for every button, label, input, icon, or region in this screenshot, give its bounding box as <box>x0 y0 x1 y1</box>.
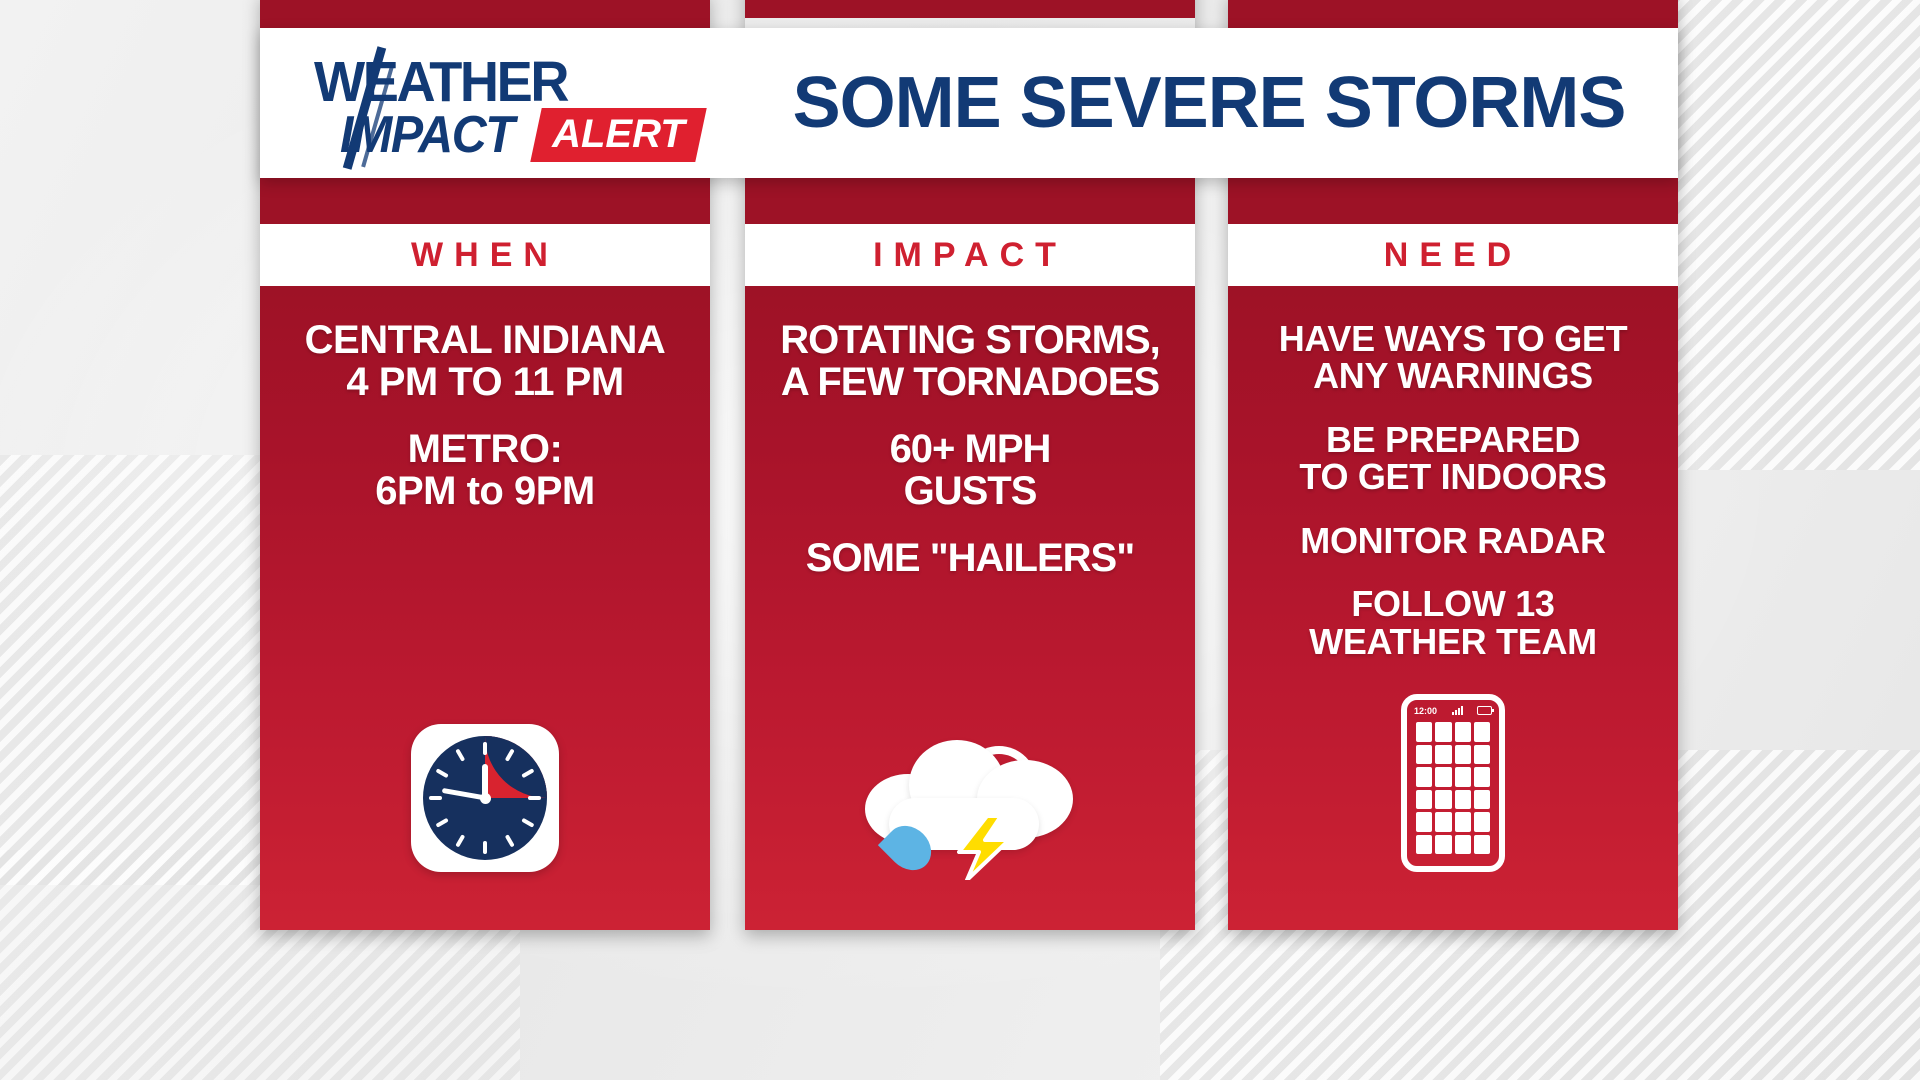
text-block: HAVE WAYS TO GET ANY WARNINGS <box>1279 320 1628 395</box>
weather-alert-graphic: WHEN CENTRAL INDIANA 4 PM TO 11 PM METRO… <box>0 0 1920 1080</box>
text-block: SOME "HAILERS" <box>806 538 1134 580</box>
weather-impact-alert-logo: WEATHER IMPACT ALERT <box>290 43 760 163</box>
column-when-red-band <box>260 178 710 224</box>
battery-icon <box>1477 706 1492 715</box>
text-line: HAVE WAYS TO GET <box>1279 320 1628 357</box>
text-line: TO GET INDOORS <box>1299 458 1606 495</box>
logo-badge-alert: ALERT <box>531 108 707 162</box>
text-block: CENTRAL INDIANA 4 PM TO 11 PM <box>305 320 666 403</box>
text-line: CENTRAL INDIANA <box>305 320 666 362</box>
clock-icon <box>411 724 559 872</box>
text-line: A FEW TORNADOES <box>780 362 1160 404</box>
column-impact-content: ROTATING STORMS, A FEW TORNADOES 60+ MPH… <box>745 286 1195 930</box>
text-block: FOLLOW 13 WEATHER TEAM <box>1309 585 1597 660</box>
text-block: BE PREPARED TO GET INDOORS <box>1299 421 1606 496</box>
text-line: 4 PM TO 11 PM <box>305 362 666 404</box>
column-need-content: HAVE WAYS TO GET ANY WARNINGS BE PREPARE… <box>1228 286 1678 930</box>
phone-status-time: 12:00 <box>1414 706 1437 716</box>
column-need-label-bar: NEED <box>1228 224 1678 286</box>
logo-word-impact: IMPACT <box>340 105 513 165</box>
smartphone-radar-icon: 12:00 <box>1401 694 1505 872</box>
text-line: FOLLOW 13 <box>1309 585 1597 622</box>
text-line: 6PM to 9PM <box>375 471 594 513</box>
text-block: 60+ MPH GUSTS <box>890 429 1051 512</box>
column-need-label: NEED <box>1384 236 1522 275</box>
text-line: SOME "HAILERS" <box>806 538 1134 580</box>
page-title: SOME SEVERE STORMS <box>760 62 1678 144</box>
text-line: BE PREPARED <box>1299 421 1606 458</box>
text-line: 60+ MPH <box>890 429 1051 471</box>
storm-cloud-lightning-icon <box>865 732 1075 872</box>
text-line: ANY WARNINGS <box>1279 357 1628 394</box>
column-impact-label-bar: IMPACT <box>745 224 1195 286</box>
text-line: GUSTS <box>890 471 1051 513</box>
column-need-red-band <box>1228 178 1678 224</box>
column-when-label-bar: WHEN <box>260 224 710 286</box>
text-line: WEATHER TEAM <box>1309 623 1597 660</box>
column-impact-label: IMPACT <box>873 236 1067 275</box>
header-bar: WEATHER IMPACT ALERT SOME SEVERE STORMS <box>260 28 1678 178</box>
column-when-content: CENTRAL INDIANA 4 PM TO 11 PM METRO: 6PM… <box>260 286 710 930</box>
column-when-label: WHEN <box>411 236 559 275</box>
column-impact-red-band <box>745 178 1195 224</box>
text-line: METRO: <box>375 429 594 471</box>
text-block: METRO: 6PM to 9PM <box>375 429 594 512</box>
text-block: MONITOR RADAR <box>1300 522 1605 559</box>
text-line: MONITOR RADAR <box>1300 522 1605 559</box>
column-impact-top-strip <box>745 0 1195 18</box>
text-line: ROTATING STORMS, <box>780 320 1160 362</box>
text-block: ROTATING STORMS, A FEW TORNADOES <box>780 320 1160 403</box>
signal-bars-icon <box>1452 706 1463 715</box>
phone-app-grid <box>1416 722 1490 854</box>
